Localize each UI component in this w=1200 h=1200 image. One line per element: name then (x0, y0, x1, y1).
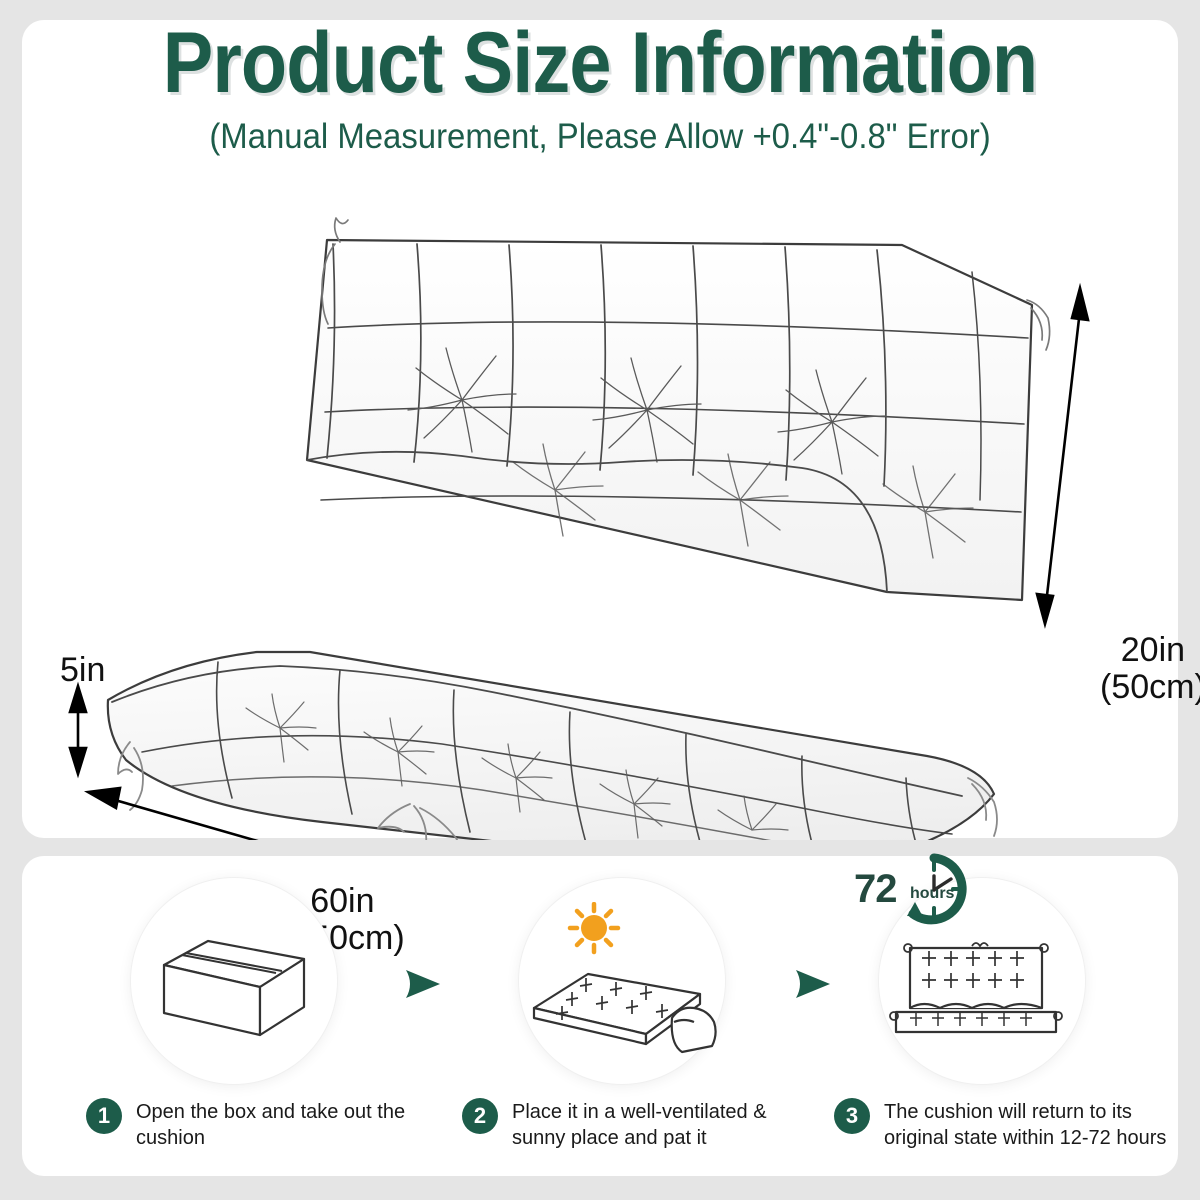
clock-badge-unit: hours (910, 885, 954, 903)
header: Product Size Information (Manual Measure… (0, 22, 1200, 157)
usage-steps: 72 hours (22, 856, 1178, 1176)
dimension-arrow-height (1037, 288, 1088, 624)
step-2-text: Place it in a well-ventilated & sunny pl… (512, 1098, 782, 1152)
dimension-thickness-inches: 5in (60, 651, 105, 689)
step-1-caption: 1 Open the box and take out the cushion (86, 1098, 406, 1152)
dimension-label-thickness: 5in (60, 652, 105, 689)
step-1-badge: 1 (86, 1098, 122, 1134)
step-3-illustration: 72 hours (812, 870, 1152, 1100)
step-3-text: The cushion will return to its original … (884, 1098, 1174, 1152)
sun-icon (570, 904, 618, 952)
page-title: Product Size Information (72, 22, 1128, 105)
step-3-caption: 3 The cushion will return to its origina… (834, 1098, 1174, 1152)
step-2-caption: 2 Place it in a well-ventilated & sunny … (462, 1098, 782, 1152)
clock-badge-number: 72 (854, 867, 897, 912)
product-size-diagram: 20in (50cm) 60in (150cm) 20in (50cm) 5in (22, 200, 1178, 840)
step-1-text: Open the box and take out the cushion (136, 1098, 406, 1152)
arrow-right-icon (400, 962, 444, 1006)
dimension-height-metric: (50cm) (1100, 668, 1200, 706)
restored-cushion-icon (884, 936, 1080, 1066)
dimension-label-height: 20in (50cm) (1100, 632, 1200, 705)
dimension-height-inches: 20in (1121, 631, 1185, 669)
dimension-arrow-thickness (70, 686, 86, 774)
step-2-illustration (452, 870, 792, 1100)
step-2-badge: 2 (462, 1098, 498, 1134)
infographic-root: Product Size Information (Manual Measure… (0, 0, 1200, 1200)
72-hours-clock-badge: 72 hours (854, 852, 971, 926)
step-separator-arrow-1 (400, 962, 444, 1006)
cardboard-box-icon (150, 919, 318, 1051)
page-subtitle: (Manual Measurement, Please Allow +0.4"-… (36, 117, 1164, 157)
step-3-badge: 3 (834, 1098, 870, 1134)
step-1-illustration (64, 870, 404, 1100)
cushion-illustration (22, 200, 1178, 840)
cushion-in-sun-icon (522, 902, 722, 1068)
